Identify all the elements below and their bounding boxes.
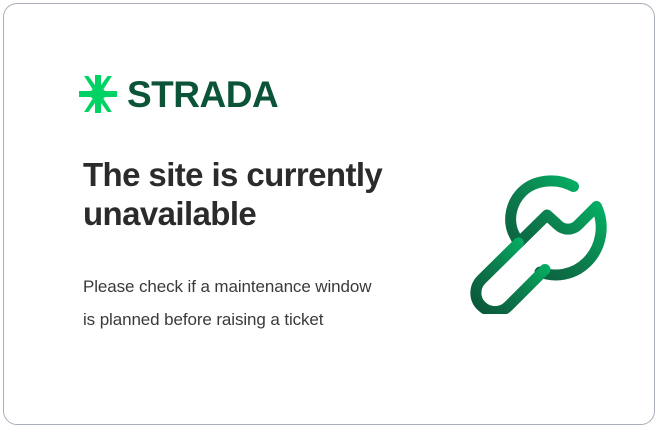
- wrench-icon: [459, 159, 614, 314]
- error-page: STRADA The site is currently unavailable…: [0, 0, 666, 436]
- page-description: Please check if a maintenance window is …: [83, 233, 383, 336]
- brand-wordmark: STRADA: [127, 76, 278, 113]
- brand-lockup: STRADA: [78, 74, 278, 114]
- maintenance-illustration: [459, 159, 614, 314]
- strada-asterisk-icon: [78, 74, 118, 114]
- message-block: The site is currently unavailable Please…: [83, 156, 413, 337]
- status-card: STRADA The site is currently unavailable…: [3, 3, 655, 425]
- page-title: The site is currently unavailable: [83, 156, 413, 233]
